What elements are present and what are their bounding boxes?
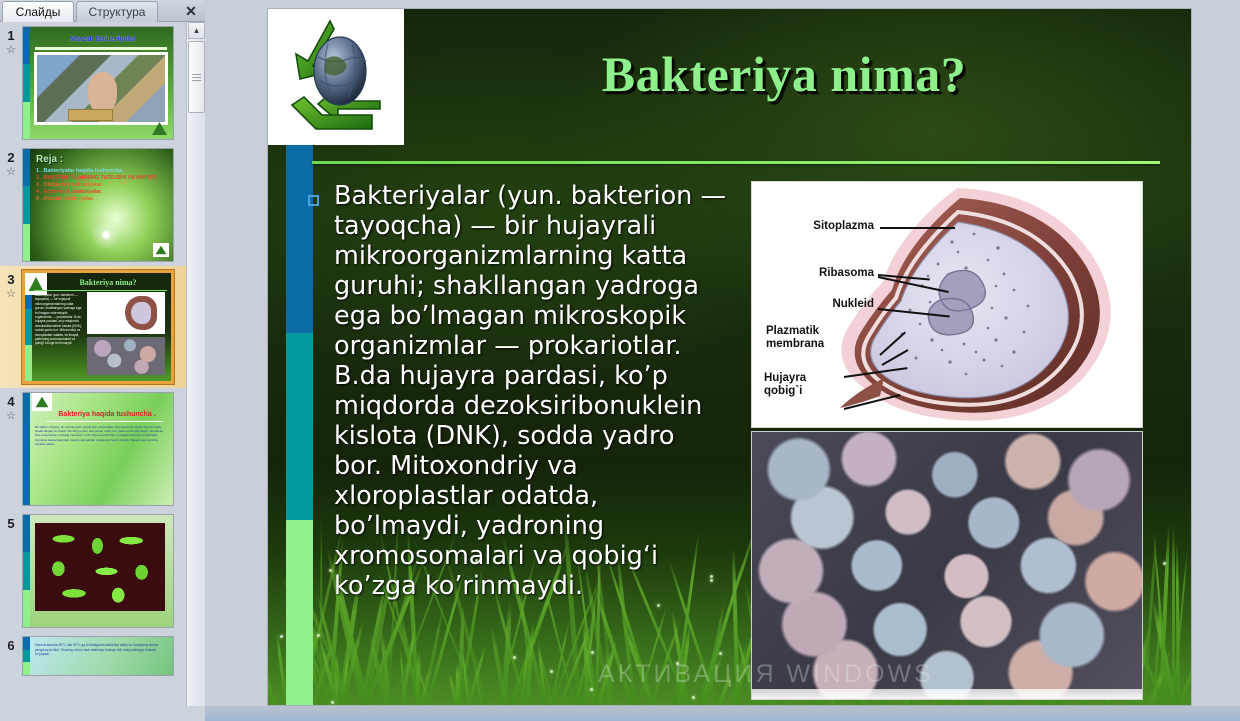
mini-list-item: 5 . Parazit bakteriyalar. bbox=[36, 196, 167, 203]
slides-panel: Слайды Структура ✕ 1 ☆ Mavzu: Bakteriyal… bbox=[0, 0, 205, 721]
thumbnail-frame[interactable]: Mavzu: Bakteriyalar bbox=[22, 26, 174, 140]
animation-star-icon: ☆ bbox=[0, 411, 22, 422]
thumb-gutter: 3 ☆ bbox=[0, 270, 22, 384]
mini-list-item: 3 . Obligatnik bakteriyalar. bbox=[36, 182, 167, 189]
page-title: Bakteriya nima? bbox=[404, 45, 1164, 103]
os-taskbar-strip bbox=[205, 706, 1240, 721]
diagram-label-sitoplazma: Sitoplazma bbox=[788, 220, 874, 233]
animation-star-icon: ☆ bbox=[0, 167, 22, 178]
title-divider bbox=[312, 161, 1160, 164]
mini-accent-strip bbox=[23, 637, 30, 675]
scroll-up-arrow-icon[interactable]: ▲ bbox=[188, 22, 205, 39]
thumb-gutter: 5 bbox=[0, 514, 22, 628]
thumb-gutter: 2 ☆ bbox=[0, 148, 22, 262]
dew-drop bbox=[719, 652, 722, 655]
mini-accent-strip bbox=[23, 27, 30, 139]
thumbnail-frame[interactable]: Reja : 1 . Bakteriyalar haqida tushuncha… bbox=[22, 148, 174, 262]
slide-number: 4 bbox=[0, 394, 22, 409]
mini-list-item: 1 . Bakteriyalar haqida tushuncha . bbox=[36, 168, 167, 175]
slide-thumbnail-2[interactable]: 2 ☆ Reja : 1 . Bakteriyalar haqida tushu… bbox=[0, 144, 186, 266]
slide-number: 5 bbox=[0, 516, 22, 531]
tab-outline[interactable]: Структура bbox=[76, 1, 158, 22]
animation-star-icon: ☆ bbox=[0, 289, 22, 300]
mini-accent-strip bbox=[23, 149, 30, 261]
mini-accent-strip bbox=[23, 515, 30, 627]
mini-logo-icon bbox=[32, 393, 52, 411]
mini-slide-bg: Bakteriya haqida tushuncha . Bir xildan … bbox=[23, 393, 173, 505]
slide-thumbnail-list[interactable]: 1 ☆ Mavzu: Bakteriyalar bbox=[0, 22, 186, 721]
thumbnail-frame[interactable]: Bakteriya haqida tushuncha . Bir xildan … bbox=[22, 392, 174, 506]
mini-list-item: 4 . Achitqichi bakteriyalar. bbox=[36, 189, 167, 196]
slide-number: 3 bbox=[0, 272, 22, 287]
mini-slide-bg: Harorat kamida 30°C dan 80°C ga ko’taril… bbox=[23, 637, 173, 675]
dew-drop bbox=[692, 696, 695, 699]
slide-thumbnail-3[interactable]: 3 ☆ Bakteriya nima? Bakteri bbox=[0, 266, 186, 388]
mini-recycle-icon bbox=[153, 243, 169, 257]
mini-slide-bg: Mavzu: Bakteriyalar bbox=[23, 27, 173, 139]
slide-thumbnail-4[interactable]: 4 ☆ Bakteriya haqida tushuncha . bbox=[0, 388, 186, 510]
slide-number: 1 bbox=[0, 28, 22, 43]
dew-drop bbox=[317, 634, 320, 637]
body-paragraph: Bakteriyalar (yun. bakterion — tayoqcha)… bbox=[334, 181, 728, 601]
mini-sparkle bbox=[89, 218, 123, 252]
dew-drop bbox=[550, 670, 553, 673]
mini-slide-bg: Bakteriya nima? Bakteriyalar (yun. bakte… bbox=[25, 273, 171, 381]
current-slide[interactable]: Bakteriya nima? Bakteriyalar (yun. bakte… bbox=[267, 8, 1192, 706]
thumbnail-frame[interactable]: Bakteriya nima? Bakteriyalar (yun. bakte… bbox=[22, 270, 174, 384]
mini-logo-icon bbox=[25, 273, 47, 295]
mini-title: Mavzu: Bakteriyalar bbox=[37, 36, 169, 43]
thumbnail-frame[interactable]: Harorat kamida 30°C dan 80°C ga ko’taril… bbox=[22, 636, 174, 676]
mini-list-item: 2 . BAKTERIYALARNING TUZILISHI VA HAYOTI… bbox=[36, 175, 167, 182]
square-bullet-icon bbox=[308, 195, 334, 601]
slide-thumbnail-1[interactable]: 1 ☆ Mavzu: Bakteriyalar bbox=[0, 22, 186, 144]
dew-drop bbox=[280, 635, 283, 638]
thumbnail-frame[interactable] bbox=[22, 514, 174, 628]
diagram-label-plazmatik-membrana: Plazmatik membrana bbox=[766, 325, 870, 351]
tab-slides[interactable]: Слайды bbox=[2, 1, 74, 22]
dew-drop bbox=[590, 688, 593, 691]
mini-accent-strip bbox=[23, 393, 30, 505]
bacteria-micrograph bbox=[751, 431, 1143, 700]
mini-slide-bg: Reja : 1 . Bakteriyalar haqida tushuncha… bbox=[23, 149, 173, 261]
mini-body-text: Harorat kamida 30°C dan 80°C ga ko’taril… bbox=[35, 643, 165, 657]
mini-bacilli-photo bbox=[35, 523, 165, 611]
bacterial-cell-diagram: Sitoplazma Ribasoma Nukleid Plazmatik me… bbox=[751, 181, 1143, 428]
close-icon[interactable]: ✕ bbox=[182, 2, 200, 20]
scrollbar-thumb[interactable] bbox=[188, 41, 205, 113]
mini-body-text: Bakteriyalar (yun. bakterion — tayoqcha)… bbox=[35, 293, 83, 346]
body-text-block: Bakteriyalar (yun. bakterion — tayoqcha)… bbox=[308, 181, 728, 601]
thumbnail-scrollbar[interactable]: ▲ bbox=[186, 22, 205, 721]
os-bottom-filler bbox=[0, 706, 205, 721]
dew-drop bbox=[657, 604, 660, 607]
mini-body-text: Bir xildan ortiqroq, bir nechta juda may… bbox=[35, 425, 165, 446]
panel-tabstrip: Слайды Структура ✕ bbox=[0, 0, 205, 22]
thumb-gutter: 4 ☆ bbox=[0, 392, 22, 506]
slide-thumbnail-5[interactable]: 5 bbox=[0, 510, 186, 632]
mini-diagram-image bbox=[87, 292, 165, 334]
mini-title: Bakteriya haqida tushuncha . bbox=[47, 411, 167, 418]
grass-blade bbox=[1172, 521, 1174, 705]
mini-collage-image bbox=[34, 52, 168, 125]
slide-thumbnail-6[interactable]: 6 Harorat kamida 30°C dan 80°C ga ko’tar… bbox=[0, 632, 186, 680]
diagram-label-nukleid: Nukleid bbox=[804, 298, 874, 311]
slide-number: 2 bbox=[0, 150, 22, 165]
slide-number: 6 bbox=[0, 638, 22, 653]
thumb-gutter: 1 ☆ bbox=[0, 26, 22, 140]
slide-stage: Bakteriya nima? Bakteriyalar (yun. bakte… bbox=[205, 0, 1240, 721]
thumb-gutter: 6 bbox=[0, 636, 22, 676]
leader-line bbox=[880, 227, 955, 229]
recycle-globe-logo bbox=[268, 9, 404, 145]
mini-slide-bg bbox=[23, 515, 173, 627]
powerpoint-window: Слайды Структура ✕ 1 ☆ Mavzu: Bakteriyal… bbox=[0, 0, 1240, 721]
dew-drop bbox=[591, 651, 594, 654]
dew-drop bbox=[513, 656, 516, 659]
animation-star-icon: ☆ bbox=[0, 45, 22, 56]
mini-photo-image bbox=[87, 337, 165, 375]
diagram-label-ribasoma: Ribasoma bbox=[794, 267, 874, 280]
mini-title: Reja : bbox=[36, 154, 63, 165]
mini-title: Bakteriya nima? bbox=[49, 278, 167, 287]
